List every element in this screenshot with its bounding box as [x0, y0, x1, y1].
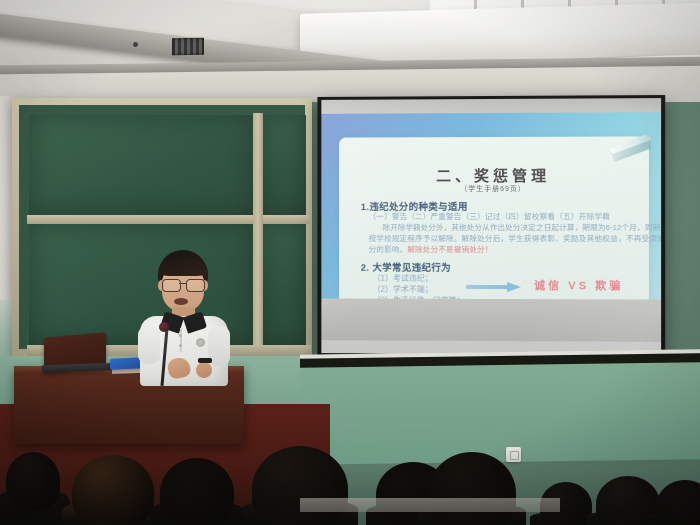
slide-clause-line: （一）警告（二）严重警告（三）记过（四）留校察看（五）开除学籍: [369, 211, 610, 222]
foreground-shadow: [0, 470, 700, 525]
chalkboard-panel-top-right: [262, 115, 306, 215]
eyeglasses-icon: [161, 279, 205, 290]
chalkboard-panel-top-left: [29, 115, 254, 215]
right-arrow-icon: [466, 283, 522, 290]
page-corner-fold-icon: [611, 135, 651, 161]
ceiling-fixture-dot: [133, 42, 138, 47]
wall-power-outlet-icon: [506, 447, 521, 462]
screen-bottom-band: [321, 298, 661, 341]
speaker-mouth: [174, 298, 188, 305]
ceiling-air-vent-icon: [172, 38, 204, 56]
projection-screen: 二、奖惩管理 （学生手册69页） 1.违纪处分的种类与适用 （一）警告（二）严重…: [317, 95, 665, 359]
presentation-slide: 二、奖惩管理 （学生手册69页） 1.违纪处分的种类与适用 （一）警告（二）严重…: [321, 112, 661, 313]
slide-list-item-2: （2）学术不端；: [373, 284, 433, 295]
chalkboard-divider-vertical: [253, 113, 263, 347]
slide-paragraph-emphasis: 解除处分不是撤销处分！: [407, 245, 492, 254]
wristwatch-icon: [198, 358, 212, 363]
speaker-fringe: [159, 260, 207, 276]
polo-button-top: [179, 334, 182, 337]
slide-list-item-1: （1）考试违纪；: [373, 273, 433, 284]
slide-paragraph-line-3: 分的影响。解除处分不是撤销处分！: [369, 244, 493, 255]
slide-subtitle: （学生手册69页）: [339, 184, 649, 195]
slide-paragraph-line-2: 按学校规定程序予以解除。解除处分后，学生获得表彰、奖励及其他权益，不再受原处: [369, 233, 661, 244]
chalkboard-divider-horizontal: [27, 215, 309, 224]
slide-callout: 诚信 VS 欺骗: [534, 277, 623, 293]
polo-button-bottom: [179, 344, 182, 347]
slide-content-card: 二、奖惩管理 （学生手册69页） 1.违纪处分的种类与适用 （一）警告（二）严重…: [339, 136, 649, 313]
polo-placket: [180, 328, 182, 352]
chalkboard-panel-bottom-right: [262, 223, 306, 345]
screen-surface: 二、奖惩管理 （学生手册69页） 1.违纪处分的种类与适用 （一）警告（二）严重…: [321, 98, 661, 355]
microphone-head-icon: [159, 322, 169, 332]
polo-sleeve-left: [138, 326, 160, 364]
polo-chest-logo: [196, 338, 205, 347]
speaker-hand-right: [196, 362, 212, 378]
slide-paragraph-line-1: 除开除学籍处分外，其他处分从作出处分决定之日起计算，期限为6-12个月，到期: [383, 222, 661, 233]
speaker-at-podium: [128, 250, 240, 385]
lecture-hall-photo: 二、奖惩管理 （学生手册69页） 1.违纪处分的种类与适用 （一）警告（二）严重…: [0, 0, 700, 525]
